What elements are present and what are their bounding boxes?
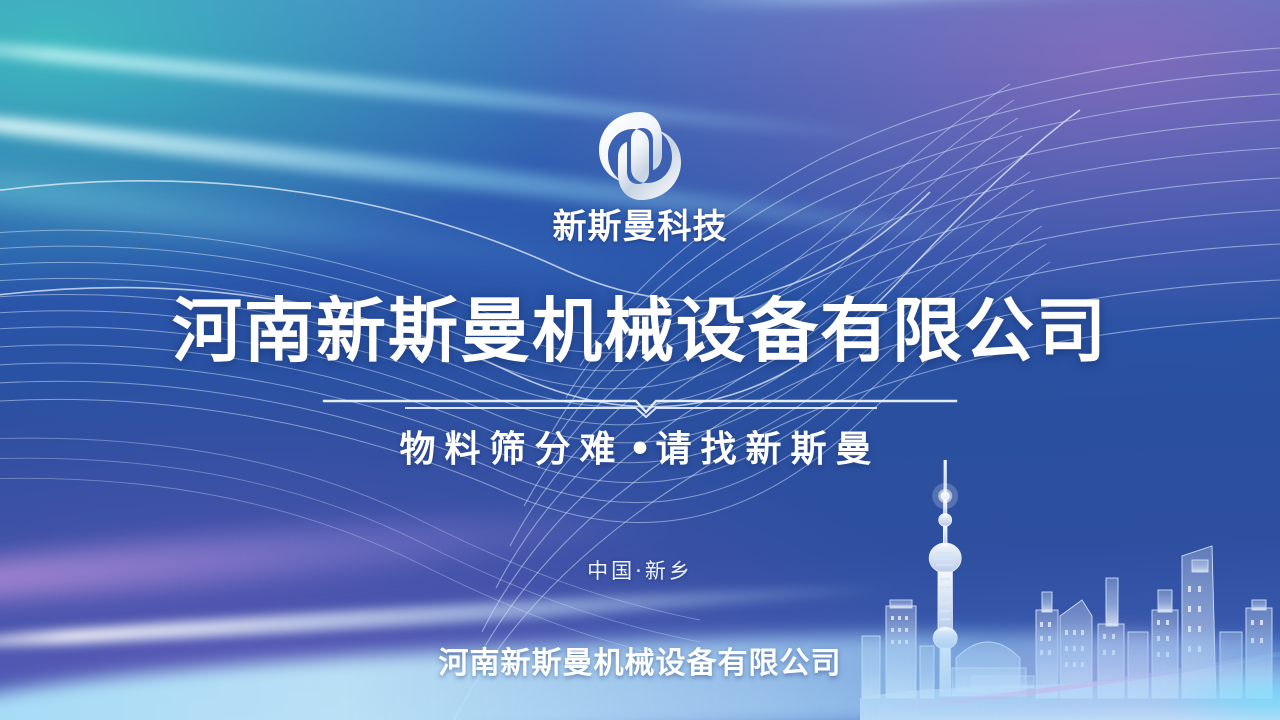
tagline-right: 请找新斯曼 [656, 429, 881, 470]
logo-block: 新斯曼科技 [0, 108, 1280, 244]
tagline: 物料筛分难•请找新斯曼 [0, 428, 1280, 471]
title-slide: 新斯曼科技 河南新斯曼机械设备有限公司 物料筛分难•请找新斯曼 中国·新乡 河南… [0, 0, 1280, 720]
tagline-left: 物料筛分难 [399, 429, 624, 470]
page-title: 河南新斯曼机械设备有限公司 [0, 296, 1280, 366]
swirl-s-monogram-icon [585, 108, 695, 204]
location-label: 中国·新乡 [0, 555, 1280, 585]
chevron-notch-divider [320, 392, 960, 420]
bottom-caption: 河南新斯曼机械设备有限公司 [0, 638, 1280, 682]
tagline-separator: • [624, 429, 655, 470]
logo-wordmark: 新斯曼科技 [553, 210, 728, 244]
